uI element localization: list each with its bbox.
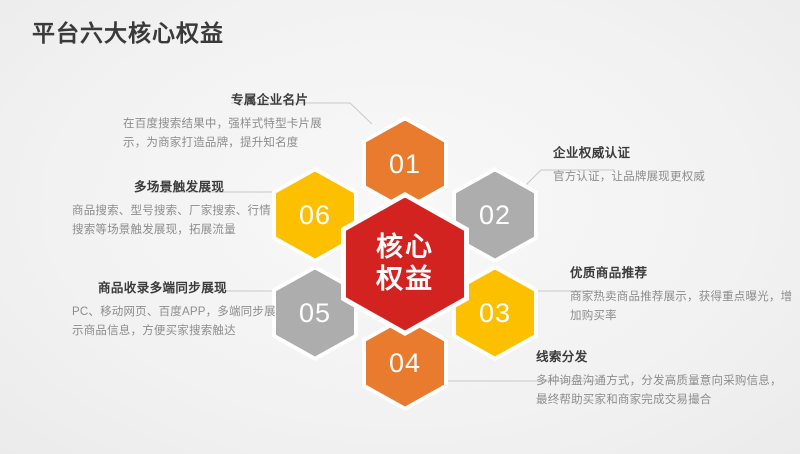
callout-01-title: 专属企业名片 (123, 89, 343, 108)
callout-04-title: 线索分发 (536, 346, 786, 365)
callout-04: 线索分发 多种询盘沟通方式，分发高质量意向采购信息，最终帮助买家和商家完成交易撮… (536, 346, 786, 409)
hexagon-05-number: 05 (299, 300, 331, 327)
callout-05: 商品收录多端同步展现 PC、移动网页、百度APP，多端同步展示商品信息，方便买家… (72, 277, 277, 340)
callout-03-title: 优质商品推荐 (570, 262, 795, 281)
callout-03-body: 商家热卖商品推荐展示，获得重点曝光，增加购买率 (570, 288, 795, 325)
callout-01-body: 在百度搜索结果中，强样式特型卡片展示，为商家打造品牌，提升知名度 (123, 115, 343, 152)
callout-02-body: 官方认证，让品牌展现更权威 (553, 168, 783, 187)
callout-05-title: 商品收录多端同步展现 (72, 277, 277, 296)
page-title: 平台六大核心权益 (32, 14, 224, 48)
callout-03: 优质商品推荐 商家热卖商品推荐展示，获得重点曝光，增加购买率 (570, 262, 795, 325)
callout-01: 专属企业名片 在百度搜索结果中，强样式特型卡片展示，为商家打造品牌，提升知名度 (123, 89, 343, 152)
callout-04-body: 多种询盘沟通方式，分发高质量意向采购信息，最终帮助买家和商家完成交易撮合 (536, 372, 786, 409)
infographic-canvas: 平台六大核心权益 01 02 03 04 (0, 0, 800, 454)
callout-02: 企业权威认证 官方认证，让品牌展现更权威 (553, 142, 783, 187)
hexagon-04-number: 04 (389, 350, 421, 377)
callout-05-body: PC、移动网页、百度APP，多端同步展示商品信息，方便买家搜索触达 (72, 303, 277, 340)
callout-06: 多场景触发展现 商品搜索、型号搜索、厂家搜索、行情搜索等场景触发展现，拓展流量 (72, 176, 277, 239)
callout-06-title: 多场景触发展现 (72, 176, 277, 195)
hexagon-06-number: 06 (299, 202, 331, 229)
hexagon-core-label: 核心 权益 (376, 232, 434, 296)
callout-02-title: 企业权威认证 (553, 142, 783, 161)
core-label-line2: 权益 (376, 264, 434, 296)
hexagon-core[interactable]: 核心 权益 (341, 192, 469, 336)
hexagon-03-number: 03 (479, 300, 511, 327)
core-label-line1: 核心 (376, 232, 434, 264)
callout-06-body: 商品搜索、型号搜索、厂家搜索、行情搜索等场景触发展现，拓展流量 (72, 202, 277, 239)
hexagon-02-number: 02 (479, 202, 511, 229)
hexagon-core-fill: 核心 权益 (346, 198, 464, 331)
hexagon-01-number: 01 (389, 151, 421, 178)
